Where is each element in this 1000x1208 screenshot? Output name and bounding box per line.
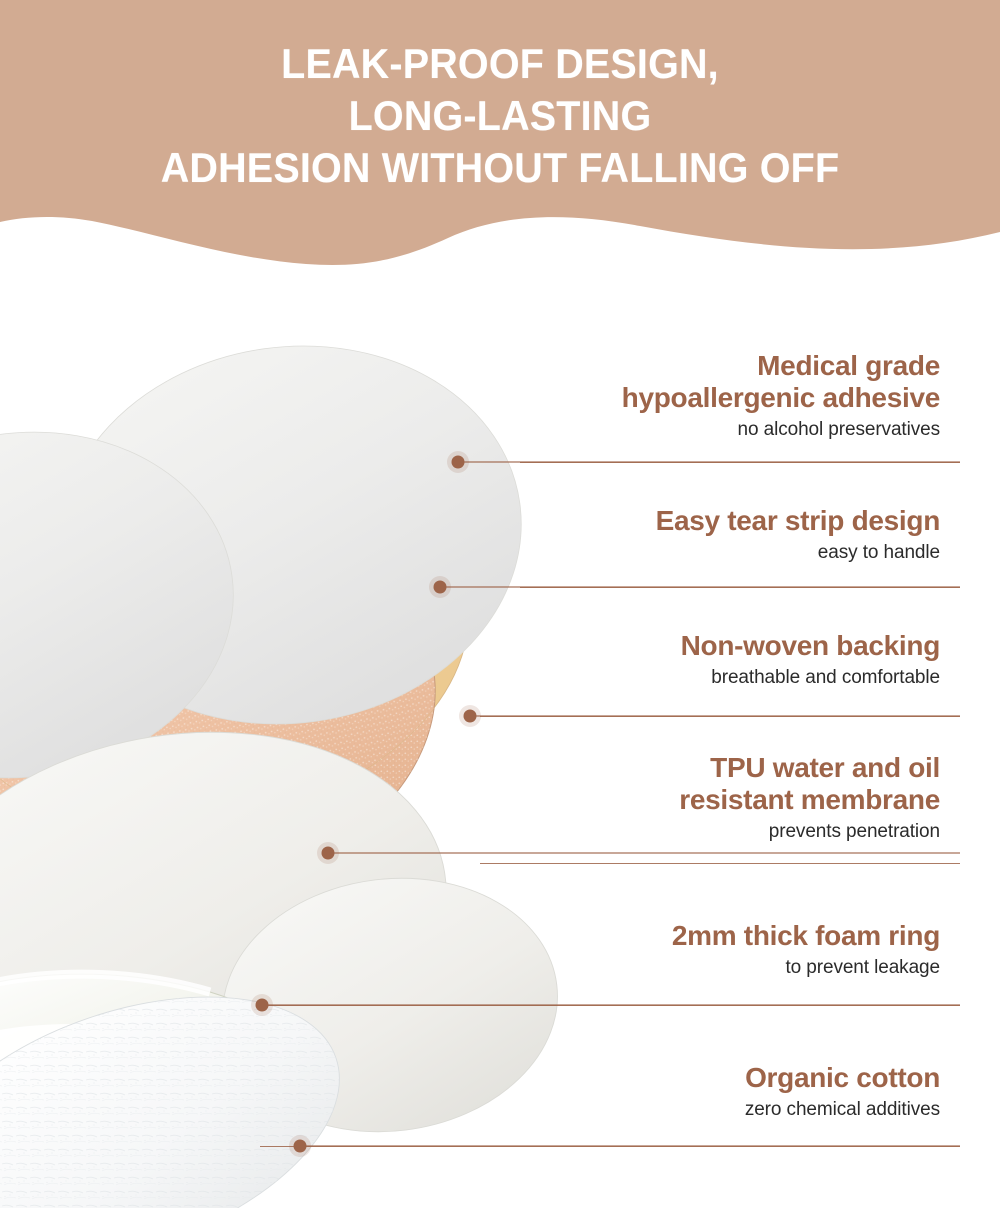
callout-item-tear-strip[interactable]: Easy tear strip design easy to handle — [520, 505, 940, 566]
callout-subtitle: to prevent leakage — [520, 955, 940, 981]
callout-divider — [260, 1005, 960, 1006]
header-banner: LEAK-PROOF DESIGN, LONG-LASTING ADHESION… — [0, 0, 1000, 290]
callout-title: Easy tear strip design — [520, 505, 940, 537]
callout-item-foam-ring[interactable]: 2mm thick foam ring to prevent leakage — [520, 920, 940, 981]
callout-divider — [520, 462, 960, 463]
callout-item-organic-cotton[interactable]: Organic cotton zero chemical additives — [520, 1062, 940, 1123]
callout-item-adhesive[interactable]: Medical grade hypoallergenic adhesive no… — [520, 350, 940, 443]
infographic-page: LEAK-PROOF DESIGN, LONG-LASTING ADHESION… — [0, 0, 1000, 1208]
callout-title: 2mm thick foam ring — [520, 920, 940, 952]
callout-title: TPU water and oil resistant membrane — [520, 752, 940, 816]
callout-title: Non-woven backing — [520, 630, 940, 662]
callout-item-non-woven[interactable]: Non-woven backing breathable and comfort… — [520, 630, 940, 691]
callout-list: Medical grade hypoallergenic adhesive no… — [520, 340, 980, 1170]
callout-divider — [480, 716, 960, 717]
callout-subtitle: easy to handle — [520, 540, 940, 566]
callout-item-tpu-membrane[interactable]: TPU water and oil resistant membrane pre… — [520, 752, 940, 845]
callout-title: Organic cotton — [520, 1062, 940, 1094]
callout-subtitle: zero chemical additives — [520, 1097, 940, 1123]
page-title: LEAK-PROOF DESIGN, LONG-LASTING ADHESION… — [30, 38, 970, 194]
callout-subtitle: breathable and comfortable — [520, 665, 940, 691]
callout-subtitle: prevents penetration — [520, 819, 940, 845]
callout-subtitle: no alcohol preservatives — [520, 417, 940, 443]
callout-divider — [480, 863, 960, 864]
callout-title: Medical grade hypoallergenic adhesive — [520, 350, 940, 414]
callout-divider — [260, 1146, 960, 1147]
callout-divider — [520, 587, 960, 588]
